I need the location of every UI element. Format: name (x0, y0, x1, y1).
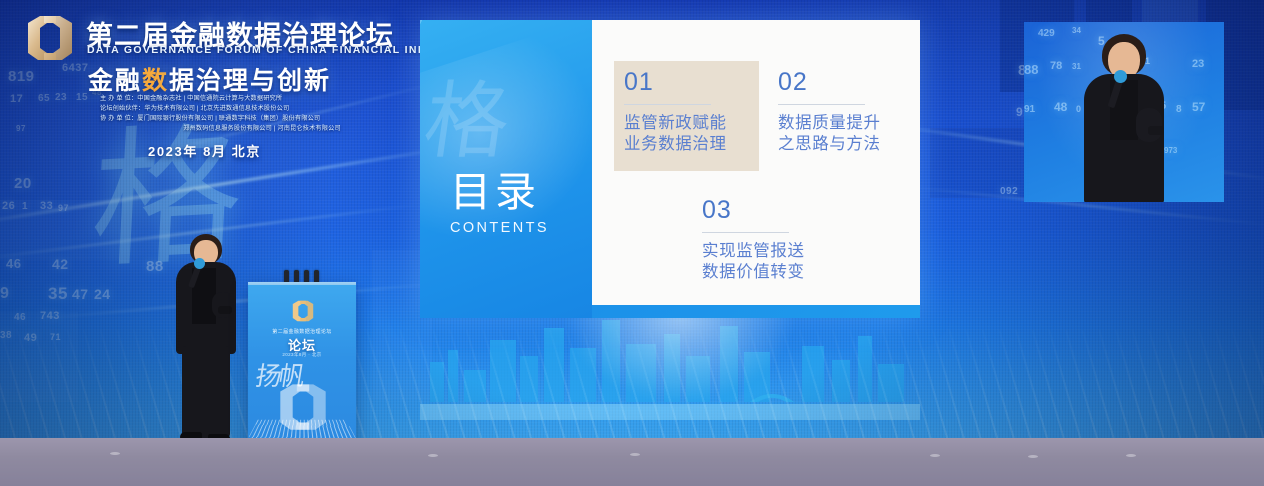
forum-title-en: DATA GOVERNANCE FORUM OF CHINA FINANCIAL… (87, 44, 469, 56)
agenda-item-02: 02 数据质量提升 之思路与方法 (778, 70, 881, 154)
organizer-line: 郑州数码信息服务股份有限公司 | 河南昆仑技术有限公司 (100, 124, 400, 134)
event-date-location: 2023年 8月 北京 (148, 141, 261, 160)
forum-theme: 金融数据治理与创新 (88, 61, 331, 97)
microphone-head (1114, 70, 1127, 83)
floor-reflection (428, 454, 438, 457)
agenda-item-03: 03 实现监管报送 数据价值转变 (702, 198, 805, 282)
agenda-line-2: 数据价值转变 (702, 261, 805, 282)
projected-slide: 格 目录 CONTENTS 01 监管新政赋能 业务数据治理 02 数据质量提升 (420, 20, 920, 318)
slide-toc-heading: 目录 CONTENTS (450, 172, 549, 236)
agenda-line-2: 业务数据治理 (624, 133, 727, 154)
agenda-divider (702, 232, 789, 233)
podium-top-surface (248, 282, 356, 285)
speaker-video-panel: 4293458878314123914805857973 (1024, 22, 1224, 202)
agenda-number: 01 (624, 70, 727, 95)
organizer-line: 论坛创始伙伴：华为技术有限公司 | 北京先进数通信息技术股份公司 (100, 104, 400, 114)
floor-reflection (630, 453, 640, 456)
agenda-divider (778, 104, 865, 105)
podium-title-small: 第二届金融数据治理论坛 (248, 328, 356, 335)
forum-logo-icon (18, 10, 82, 66)
toc-title-cn: 目录 (450, 172, 549, 213)
agenda-number: 02 (778, 70, 881, 95)
agenda-text: 监管新政赋能 业务数据治理 (624, 112, 727, 154)
speaker-arm (1136, 108, 1162, 142)
agenda-text: 数据质量提升 之思路与方法 (778, 112, 881, 154)
microphone-head (194, 258, 205, 269)
podium-logo-icon (288, 298, 318, 324)
organizer-list: 主 办 单 位：中国金融杂志社 | 中国信通院云计算与大数据研究所论坛创始伙伴：… (100, 94, 400, 134)
event-banner: 第二届金融数据治理论坛 DATA GOVERNANCE FORUM OF CHI… (0, 0, 418, 166)
agenda-divider (624, 104, 711, 105)
conference-stage-photo: 格 81964371765231548972026133974642889354… (0, 0, 1264, 486)
agenda-line-2: 之思路与方法 (778, 133, 881, 154)
theme-part2: 据治理与创新 (169, 66, 331, 95)
floor-reflection (1126, 454, 1136, 457)
speaker-trousers (182, 346, 230, 438)
floor-reflection (110, 452, 120, 455)
speaker-arm (212, 292, 234, 318)
slide-ghost-character: 格 (420, 54, 511, 175)
presenter-clicker (218, 306, 232, 314)
agenda-item-01: 01 监管新政赋能 业务数据治理 (624, 70, 727, 154)
agenda-line-1: 数据质量提升 (778, 112, 881, 133)
stage-speaker-figure (168, 234, 244, 448)
agenda-number: 03 (702, 198, 805, 223)
toc-title-en: CONTENTS (450, 220, 549, 236)
agenda-line-1: 监管新政赋能 (624, 112, 727, 133)
speaker-closeup-figure (1076, 34, 1172, 202)
stage-floor (0, 438, 1264, 486)
agenda-line-1: 实现监管报送 (702, 240, 805, 261)
slide-content-card: 01 监管新政赋能 业务数据治理 02 数据质量提升 之思路与方法 03 (592, 20, 920, 305)
organizer-line: 主 办 单 位：中国金融杂志社 | 中国信通院云计算与大数据研究所 (100, 94, 400, 104)
floor-reflection (930, 454, 940, 457)
presenter-clicker (1148, 126, 1164, 135)
floor-reflection (1028, 455, 1038, 458)
organizer-line: 协 办 单 位：厦门国际银行股份有限公司 | 联通数字科技（集团）股份有限公司 (100, 114, 400, 124)
agenda-text: 实现监管报送 数据价值转变 (702, 240, 805, 282)
theme-highlight-char: 数 (142, 66, 169, 95)
theme-part1: 金融 (88, 66, 142, 95)
